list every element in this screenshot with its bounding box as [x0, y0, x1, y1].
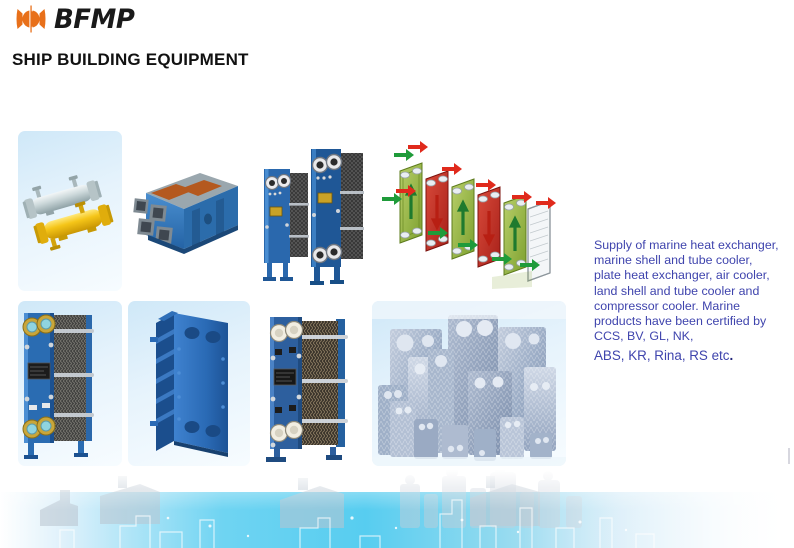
- stainless-plate-collection-photo[interactable]: [372, 301, 566, 466]
- description-tail-dot: .: [729, 348, 733, 363]
- logo-wordmark: BFMP: [54, 6, 134, 33]
- plate-heat-exchanger-white-flange-photo[interactable]: [256, 301, 366, 466]
- brand-logo: BFMP: [14, 2, 214, 36]
- description-body: Supply of marine heat exchanger, marine …: [594, 238, 779, 343]
- page-title: SHIP BUILDING EQUIPMENT: [12, 50, 249, 70]
- gallery-row-top: [18, 131, 566, 291]
- decorative-industrial-skyline-band: [0, 470, 794, 548]
- gallery-row-bottom: [18, 301, 566, 466]
- shell-and-tube-coolers-photo[interactable]: [18, 131, 122, 291]
- exchanger-frame-plate-photo[interactable]: [128, 301, 250, 466]
- air-cooler-unit-photo[interactable]: [128, 131, 250, 291]
- plate-heat-exchanger-pair-photo[interactable]: [256, 131, 366, 291]
- bfmp-valve-logo-icon: [14, 4, 48, 34]
- description-tail: ABS, KR, Rina, RS etc.: [594, 346, 780, 365]
- plate-heat-exchanger-brass-flange-photo[interactable]: [18, 301, 122, 466]
- plate-flow-diagram[interactable]: [372, 131, 566, 291]
- product-description: Supply of marine heat exchanger, marine …: [594, 238, 780, 365]
- product-gallery: [18, 131, 566, 466]
- description-tail-text: ABS, KR, Rina, RS etc: [594, 348, 729, 363]
- page-edge-mark: [788, 448, 790, 464]
